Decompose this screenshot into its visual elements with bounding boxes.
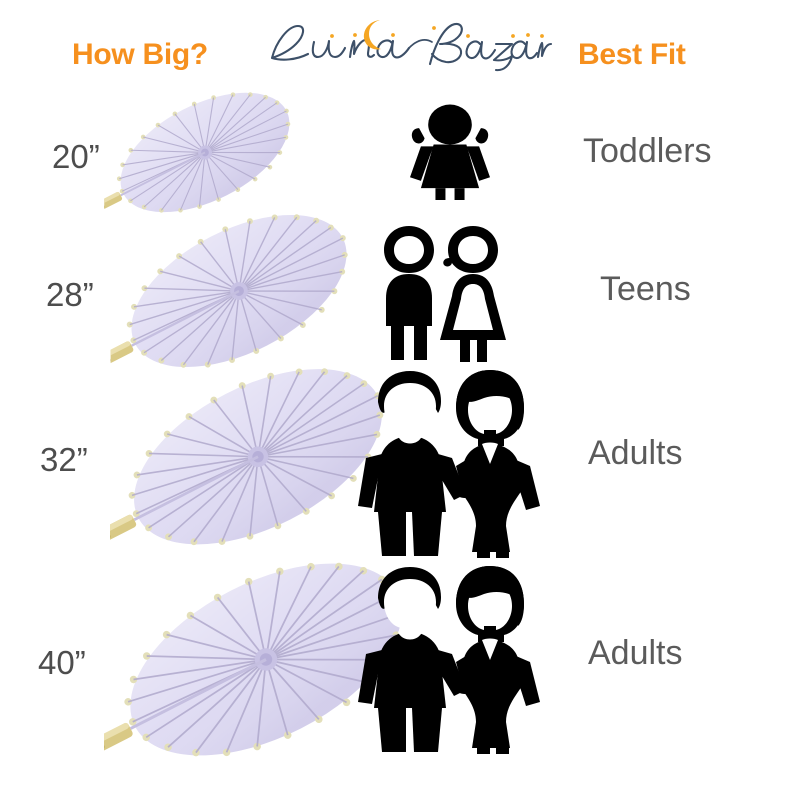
fit-label: Teens — [600, 270, 691, 309]
size-label: 20” — [52, 138, 100, 176]
size-row: 28” Teens — [0, 214, 800, 374]
adult-couple-icon — [356, 366, 542, 558]
fit-label: Toddlers — [583, 132, 712, 171]
toddler-girl-icon — [396, 100, 504, 200]
teen-couple-icon — [372, 222, 512, 364]
size-row: 32” Adults — [0, 366, 800, 562]
fit-label: Adults — [588, 634, 683, 673]
size-row: 20” Toddlers — [0, 88, 800, 220]
size-label: 28” — [46, 276, 94, 314]
best-fit-header: Best Fit — [578, 38, 686, 72]
luna-bazaar-logo — [262, 14, 552, 76]
size-row: 40” Adults — [0, 556, 800, 786]
size-label: 32” — [40, 441, 88, 479]
adult-couple-icon — [356, 562, 542, 754]
fit-label: Adults — [588, 434, 683, 473]
paper-parasol-icon — [108, 214, 370, 372]
paper-parasol-icon — [100, 92, 310, 216]
size-label: 40” — [38, 644, 86, 682]
how-big-header: How Big? — [72, 38, 208, 72]
parasol-size-guide: How Big? — [0, 0, 800, 800]
